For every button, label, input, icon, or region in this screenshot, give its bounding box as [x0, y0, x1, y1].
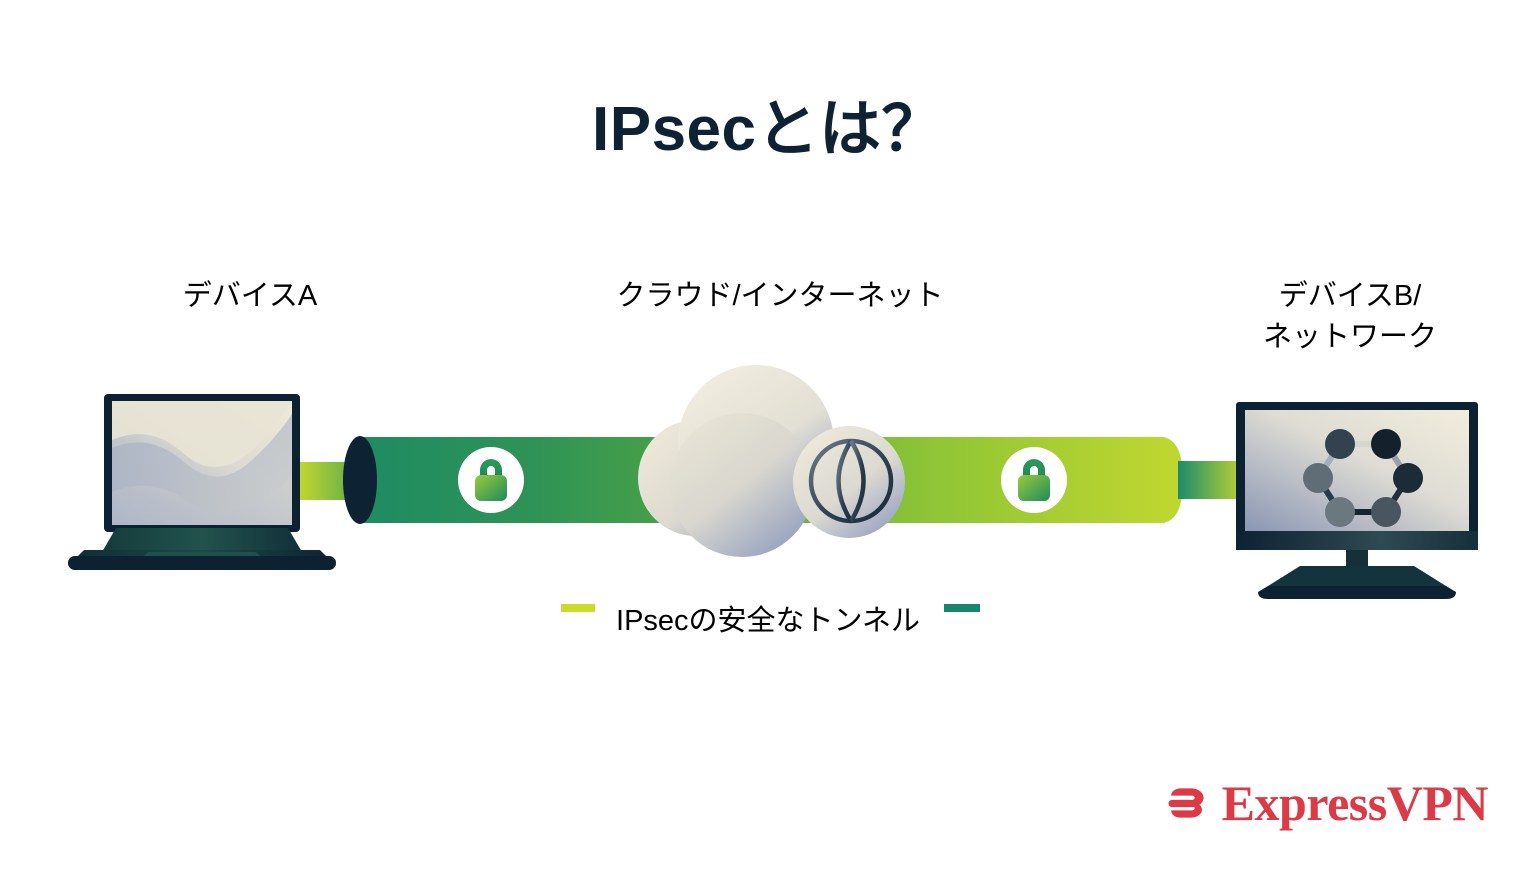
monitor-icon	[1236, 402, 1478, 599]
lock-badge-right	[1001, 447, 1067, 513]
expressvpn-wordmark: ExpressVPN	[1222, 778, 1488, 828]
tunnel-opening	[343, 436, 377, 524]
laptop-icon	[68, 394, 336, 570]
infographic-canvas: IPsecとは？ デバイスA クラウド/インターネット デバイスB/ ネットワー…	[0, 0, 1536, 894]
diagram-scene	[0, 0, 1536, 894]
cloud-internet-graphic	[638, 365, 905, 557]
expressvpn-logo: ExpressVPN	[1168, 765, 1488, 841]
cable-right	[1178, 461, 1246, 499]
tunnel-caption: IPsecの安全なトンネル	[0, 597, 1536, 639]
lock-badge-left	[458, 447, 524, 513]
expressvpn-mark-icon	[1168, 772, 1206, 834]
